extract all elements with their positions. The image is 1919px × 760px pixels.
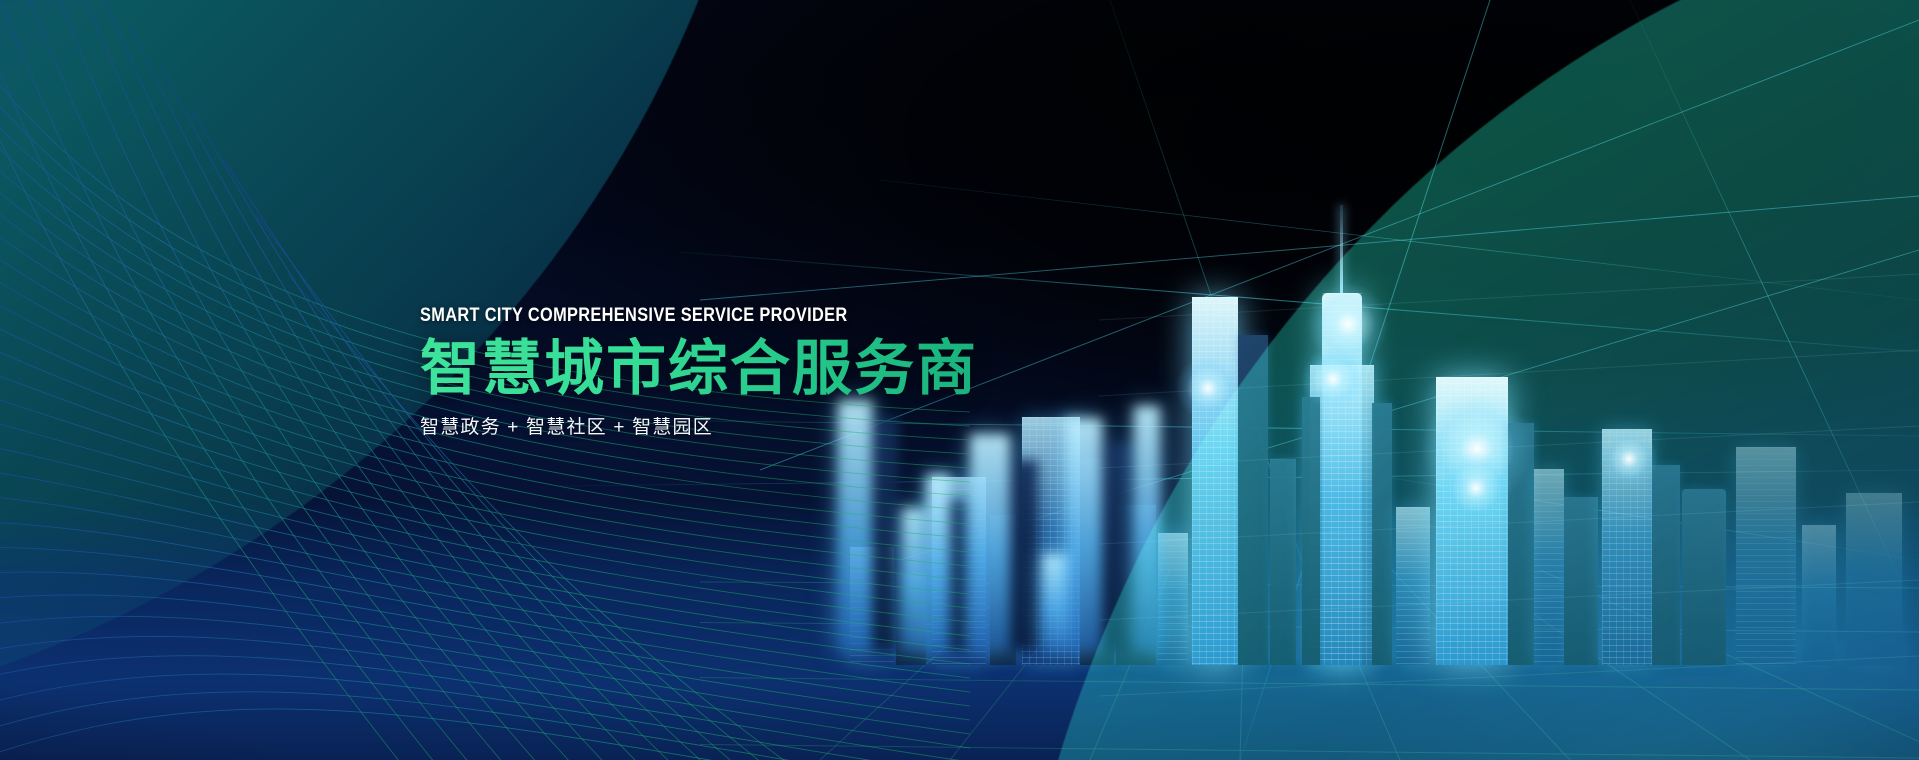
foreground-bar (1010, 460, 1038, 650)
hero-tagline: 智慧政务 + 智慧社区 + 智慧园区 (420, 418, 1060, 437)
foreground-bar (1066, 418, 1102, 650)
hero-headline: 智慧城市综合服务商 (420, 337, 1060, 402)
green-overlay-lines (1099, 200, 1919, 760)
smart-city-hero-banner: SMART CITY COMPREHENSIVE SERVICE PROVIDE… (0, 0, 1919, 760)
hero-eyebrow: SMART CITY COMPREHENSIVE SERVICE PROVIDE… (420, 306, 970, 325)
green-lines-svg (1099, 200, 1919, 760)
foreground-bar (970, 434, 1010, 650)
foreground-bar (1042, 554, 1068, 650)
hero-copy-block: SMART CITY COMPREHENSIVE SERVICE PROVIDE… (420, 306, 1060, 437)
